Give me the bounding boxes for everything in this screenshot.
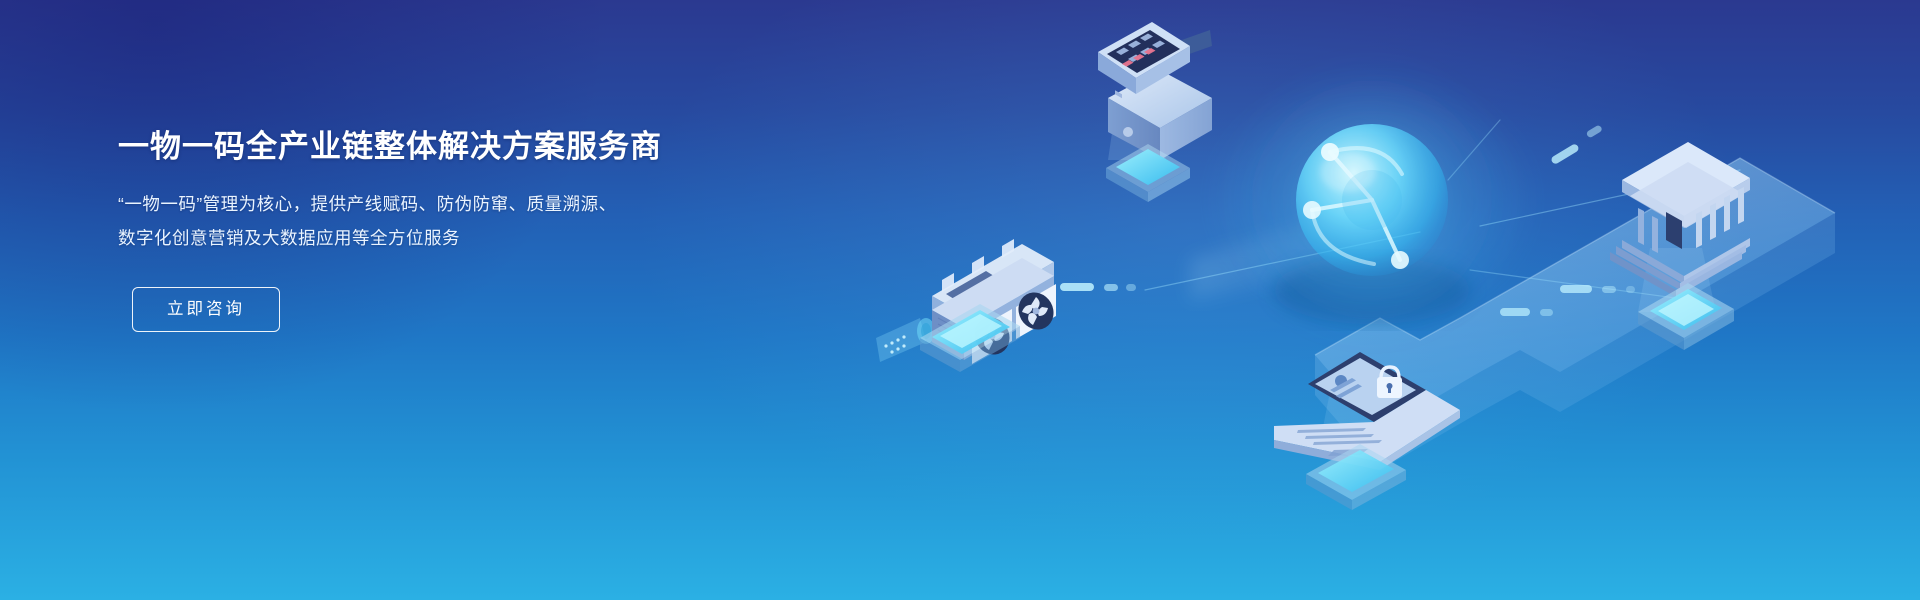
packet-left xyxy=(1060,283,1136,291)
hero-subtitle: “一物一码”管理为核心，提供产线赋码、防伪防窜、质量溯源、 数字化创意营销及大数… xyxy=(118,187,758,255)
pos-terminal-icon xyxy=(1098,22,1212,202)
page-title: 一物一码全产业链整体解决方案服务商 xyxy=(118,128,758,167)
consult-now-button[interactable]: 立即咨询 xyxy=(132,287,280,332)
hero-copy: 一物一码全产业链整体解决方案服务商 “一物一码”管理为核心，提供产线赋码、防伪防… xyxy=(118,128,758,332)
subtitle-line-1: “一物一码”管理为核心，提供产线赋码、防伪防窜、质量溯源、 xyxy=(118,187,758,221)
hero-illustration xyxy=(860,0,1920,600)
packet-bank xyxy=(1500,308,1553,316)
packet-right-upper xyxy=(1550,124,1603,165)
subtitle-line-2: 数字化创意营销及大数据应用等全方位服务 xyxy=(118,221,758,255)
hero-banner: 一物一码全产业链整体解决方案服务商 “一物一码”管理为核心，提供产线赋码、防伪防… xyxy=(0,0,1920,600)
